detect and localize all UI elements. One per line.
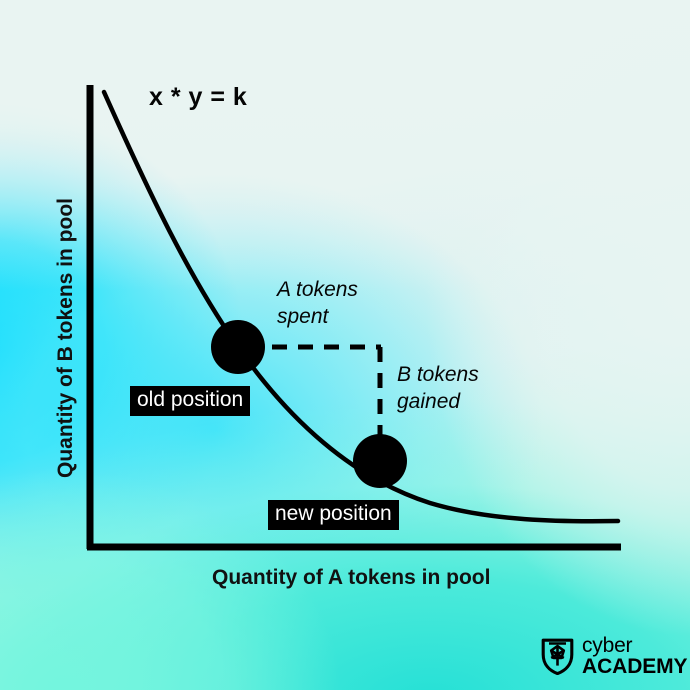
infographic-canvas: x * y = k A tokens spent B tokens gained… — [0, 0, 690, 690]
logo-word-cyber: cyber — [582, 635, 687, 656]
y-axis-title: Quantity of B tokens in pool — [54, 198, 78, 478]
new-position-tag: new position — [268, 500, 399, 530]
old-position-point[interactable] — [211, 320, 265, 374]
cyber-academy-logo[interactable]: cyber ACADEMY — [541, 635, 687, 677]
b-tokens-gained-label: B tokens gained — [397, 362, 479, 416]
logo-word-academy: ACADEMY — [582, 656, 687, 677]
shield-icon — [541, 637, 574, 675]
new-position-point[interactable] — [353, 434, 407, 488]
equation-label: x * y = k — [149, 83, 247, 112]
logo-wordmark: cyber ACADEMY — [582, 635, 687, 677]
a-tokens-spent-label: A tokens spent — [277, 277, 358, 331]
x-axis-title: Quantity of A tokens in pool — [212, 566, 490, 590]
old-position-tag: old position — [130, 386, 250, 416]
